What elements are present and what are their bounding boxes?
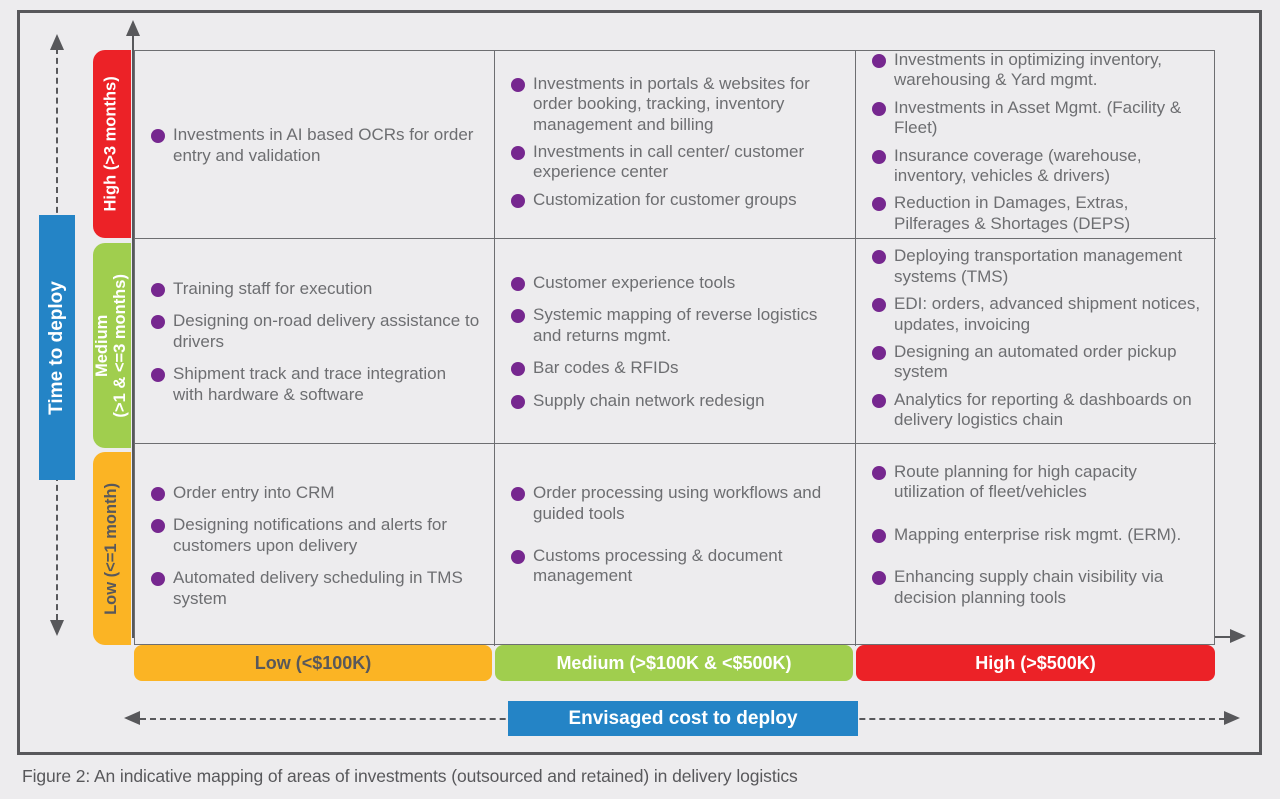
bullet-dot-icon	[872, 102, 886, 116]
bullet-dot-icon	[151, 572, 165, 586]
cell-high-low: Investments in AI based OCRs for order e…	[135, 51, 495, 239]
figure-caption: Figure 2: An indicative mapping of areas…	[22, 766, 1222, 787]
matrix-bullet-text: Shipment track and trace integration wit…	[173, 364, 446, 403]
matrix-bullet-item: Investments in optimizing inventory, war…	[870, 50, 1202, 91]
cell-high-high: Investments in optimizing inventory, war…	[856, 51, 1216, 239]
matrix-bullet-item: Reduction in Damages, Extras, Pilferages…	[870, 193, 1202, 234]
bullet-dot-icon	[872, 54, 886, 68]
cell-low-low: Order entry into CRMDesigning notificati…	[135, 444, 495, 646]
matrix-bullet-item: Customer experience tools	[509, 273, 841, 293]
matrix-bullet-item: Investments in AI based OCRs for order e…	[149, 125, 480, 166]
cell-high-medium: Investments in portals & websites for or…	[495, 51, 856, 239]
row-label-medium-line1: Medium	[93, 314, 111, 376]
cell-medium-low: Training staff for executionDesigning on…	[135, 239, 495, 444]
bullet-dot-icon	[151, 283, 165, 297]
bullet-dot-icon	[151, 487, 165, 501]
bullet-dot-icon	[511, 395, 525, 409]
matrix-bullet-item: Customs processing & document management	[509, 546, 841, 587]
matrix-bullet-item: Designing notifications and alerts for c…	[149, 515, 480, 556]
matrix-bullet-item: Order processing using workflows and gui…	[509, 483, 841, 524]
column-label-medium-text: Medium (>$100K & <$500K)	[556, 653, 791, 674]
bullet-dot-icon	[872, 529, 886, 543]
matrix-bullet-item: Shipment track and trace integration wit…	[149, 364, 480, 405]
matrix-bullet-text: Enhancing supply chain visibility via de…	[894, 567, 1163, 606]
bullet-dot-icon	[872, 466, 886, 480]
y-scale-arrow-down-icon	[50, 620, 64, 636]
matrix-bullet-item: Designing an automated order pickup syst…	[870, 342, 1202, 383]
matrix-bullet-item: Supply chain network redesign	[509, 391, 841, 411]
x-scale-arrow-right-icon	[1224, 711, 1240, 725]
matrix-bullet-item: Insurance coverage (warehouse, inventory…	[870, 146, 1202, 187]
matrix-bullet-item: Automated delivery scheduling in TMS sys…	[149, 568, 480, 609]
row-label-high-text: High (>3 months)	[103, 76, 121, 211]
matrix-bullet-item: EDI: orders, advanced shipment notices, …	[870, 294, 1202, 335]
matrix-bullet-item: Deploying transportation management syst…	[870, 246, 1202, 287]
investment-matrix: Investments in AI based OCRs for order e…	[134, 50, 1215, 645]
bullet-dot-icon	[511, 277, 525, 291]
cell-medium-high: Deploying transportation management syst…	[856, 239, 1216, 444]
matrix-bullet-item: Systemic mapping of reverse logistics an…	[509, 305, 841, 346]
column-label-high: High (>$500K)	[856, 645, 1215, 681]
bullet-dot-icon	[872, 298, 886, 312]
matrix-bullet-item: Route planning for high capacity utiliza…	[870, 462, 1202, 503]
matrix-bullet-text: Supply chain network redesign	[533, 391, 765, 410]
matrix-bullet-text: Automated delivery scheduling in TMS sys…	[173, 568, 463, 607]
bullet-dot-icon	[872, 394, 886, 408]
bullet-dot-icon	[511, 362, 525, 376]
y-axis-arrow-icon	[126, 20, 140, 36]
bullet-dot-icon	[511, 550, 525, 564]
column-label-low-text: Low (<$100K)	[255, 653, 372, 674]
y-axis-title-label: Time to deploy	[46, 281, 68, 415]
matrix-bullet-text: Analytics for reporting & dashboards on …	[894, 390, 1192, 429]
matrix-bullet-text: Route planning for high capacity utiliza…	[894, 462, 1137, 501]
matrix-bullet-item: Enhancing supply chain visibility via de…	[870, 567, 1202, 608]
matrix-bullet-item: Bar codes & RFIDs	[509, 358, 841, 378]
y-axis-title: Time to deploy	[39, 215, 75, 480]
matrix-bullet-text: Order entry into CRM	[173, 483, 335, 502]
bullet-dot-icon	[511, 487, 525, 501]
matrix-bullet-text: Customs processing & document management	[533, 546, 782, 585]
figure-root: Time to deploy High (>3 months) Medium (…	[0, 0, 1280, 799]
bullet-dot-icon	[151, 368, 165, 382]
bullet-dot-icon	[151, 519, 165, 533]
bullet-dot-icon	[872, 346, 886, 360]
column-label-medium: Medium (>$100K & <$500K)	[495, 645, 853, 681]
matrix-bullet-text: Investments in portals & websites for or…	[533, 74, 810, 134]
matrix-bullet-item: Investments in call center/ customer exp…	[509, 142, 841, 183]
x-axis-title-label: Envisaged cost to deploy	[568, 708, 797, 730]
matrix-bullet-text: Designing on-road delivery assistance to…	[173, 311, 479, 350]
row-label-medium: Medium (>1 & <=3 months)	[93, 243, 131, 448]
matrix-bullet-item: Mapping enterprise risk mgmt. (ERM).	[870, 525, 1202, 545]
column-label-low: Low (<$100K)	[134, 645, 492, 681]
bullet-dot-icon	[151, 315, 165, 329]
matrix-bullet-text: Designing an automated order pickup syst…	[894, 342, 1177, 381]
matrix-bullet-item: Investments in portals & websites for or…	[509, 74, 841, 135]
row-label-low-text: Low (<=1 month)	[103, 483, 121, 615]
matrix-bullet-text: Insurance coverage (warehouse, inventory…	[894, 146, 1142, 185]
row-label-low: Low (<=1 month)	[93, 452, 131, 645]
row-label-high: High (>3 months)	[93, 50, 131, 238]
matrix-bullet-text: EDI: orders, advanced shipment notices, …	[894, 294, 1200, 333]
cell-low-medium: Order processing using workflows and gui…	[495, 444, 856, 646]
bullet-dot-icon	[872, 150, 886, 164]
cell-medium-medium: Customer experience toolsSystemic mappin…	[495, 239, 856, 444]
matrix-bullet-text: Investments in call center/ customer exp…	[533, 142, 804, 181]
matrix-bullet-text: Investments in AI based OCRs for order e…	[173, 125, 473, 164]
bullet-dot-icon	[511, 309, 525, 323]
matrix-bullet-text: Deploying transportation management syst…	[894, 246, 1182, 285]
matrix-bullet-text: Designing notifications and alerts for c…	[173, 515, 447, 554]
matrix-bullet-item: Analytics for reporting & dashboards on …	[870, 390, 1202, 431]
matrix-bullet-item: Customization for customer groups	[509, 190, 841, 210]
matrix-bullet-item: Training staff for execution	[149, 279, 480, 299]
y-scale-arrow-up-icon	[50, 34, 64, 50]
matrix-bullet-text: Reduction in Damages, Extras, Pilferages…	[894, 193, 1130, 232]
matrix-bullet-item: Designing on-road delivery assistance to…	[149, 311, 480, 352]
matrix-bullet-item: Order entry into CRM	[149, 483, 480, 503]
matrix-bullet-text: Customer experience tools	[533, 273, 735, 292]
matrix-bullet-item: Investments in Asset Mgmt. (Facility & F…	[870, 98, 1202, 139]
bullet-dot-icon	[511, 146, 525, 160]
matrix-bullet-text: Investments in Asset Mgmt. (Facility & F…	[894, 98, 1181, 137]
matrix-bullet-text: Order processing using workflows and gui…	[533, 483, 821, 522]
row-label-medium-line2: (>1 & <=3 months)	[111, 274, 129, 418]
column-label-high-text: High (>$500K)	[975, 653, 1096, 674]
bullet-dot-icon	[511, 194, 525, 208]
matrix-bullet-text: Customization for customer groups	[533, 190, 797, 209]
bullet-dot-icon	[872, 571, 886, 585]
bullet-dot-icon	[511, 78, 525, 92]
bullet-dot-icon	[872, 250, 886, 264]
bullet-dot-icon	[151, 129, 165, 143]
x-axis-title: Envisaged cost to deploy	[508, 701, 858, 736]
matrix-bullet-text: Bar codes & RFIDs	[533, 358, 679, 377]
bullet-dot-icon	[872, 197, 886, 211]
row-label-medium-text: Medium (>1 & <=3 months)	[94, 274, 130, 418]
matrix-bullet-text: Systemic mapping of reverse logistics an…	[533, 305, 817, 344]
matrix-bullet-text: Training staff for execution	[173, 279, 372, 298]
x-scale-arrow-left-icon	[124, 711, 140, 725]
matrix-bullet-text: Mapping enterprise risk mgmt. (ERM).	[894, 525, 1181, 544]
matrix-bullet-text: Investments in optimizing inventory, war…	[894, 50, 1162, 89]
x-axis-arrow-icon	[1230, 629, 1246, 643]
cell-low-high: Route planning for high capacity utiliza…	[856, 444, 1216, 646]
